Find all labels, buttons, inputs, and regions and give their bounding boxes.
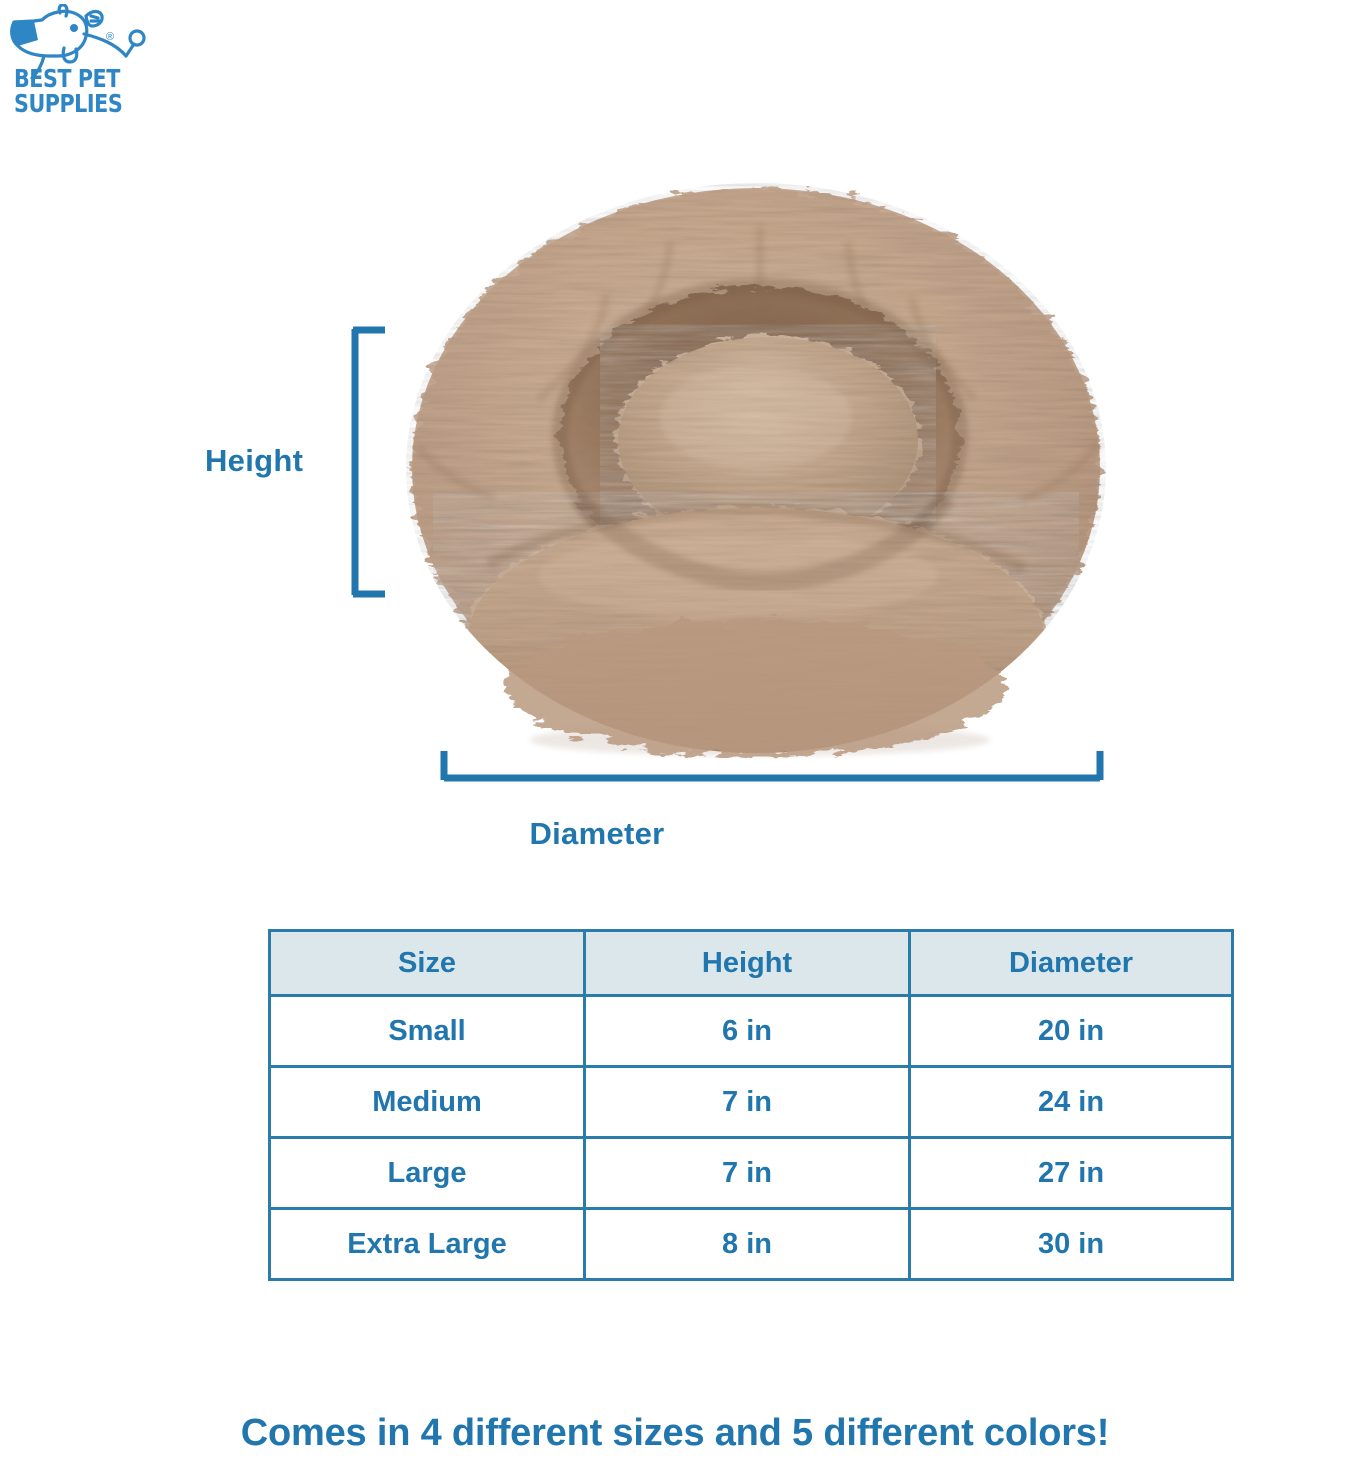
registered-trademark-icon: ® xyxy=(106,31,114,43)
cell-size: Medium xyxy=(270,1067,585,1138)
cell-height: 8 in xyxy=(585,1209,910,1280)
cell-diameter: 30 in xyxy=(910,1209,1233,1280)
footer-caption: Comes in 4 different sizes and 5 differe… xyxy=(0,1412,1350,1455)
table-row: Small 6 in 20 in xyxy=(270,996,1233,1067)
table-body: Small 6 in 20 in Medium 7 in 24 in Large… xyxy=(270,996,1233,1280)
height-bracket-icon xyxy=(350,326,390,598)
brand-name-line2: SUPPLIES xyxy=(14,89,122,118)
table-header-height: Height xyxy=(585,931,910,996)
cell-diameter: 24 in xyxy=(910,1067,1233,1138)
table-row: Extra Large 8 in 30 in xyxy=(270,1209,1233,1280)
brand-logo: ® BEST PETSUPPLIES xyxy=(8,4,168,132)
cell-height: 7 in xyxy=(585,1138,910,1209)
table-header-size: Size xyxy=(270,931,585,996)
diameter-label: Diameter xyxy=(0,816,1350,852)
table-header-diameter: Diameter xyxy=(910,931,1233,996)
height-label: Height xyxy=(205,443,303,479)
cell-height: 7 in xyxy=(585,1067,910,1138)
table-header-row: Size Height Diameter xyxy=(270,931,1233,996)
table-row: Large 7 in 27 in xyxy=(270,1138,1233,1209)
cell-size: Large xyxy=(270,1138,585,1209)
diameter-bracket-icon xyxy=(440,748,1104,782)
infographic-canvas: ® BEST PETSUPPLIES xyxy=(0,0,1350,1475)
table-header: Size Height Diameter xyxy=(270,931,1233,996)
cell-height: 6 in xyxy=(585,996,910,1067)
cell-size: Extra Large xyxy=(270,1209,585,1280)
cell-size: Small xyxy=(270,996,585,1067)
cell-diameter: 27 in xyxy=(910,1138,1233,1209)
diameter-label-text: Diameter xyxy=(529,816,664,851)
table-row: Medium 7 in 24 in xyxy=(270,1067,1233,1138)
brand-name: BEST PETSUPPLIES xyxy=(14,66,122,116)
size-chart-table: Size Height Diameter Small 6 in 20 in Me… xyxy=(268,929,1234,1281)
product-image-pet-bed xyxy=(388,168,1124,768)
cell-diameter: 20 in xyxy=(910,996,1233,1067)
